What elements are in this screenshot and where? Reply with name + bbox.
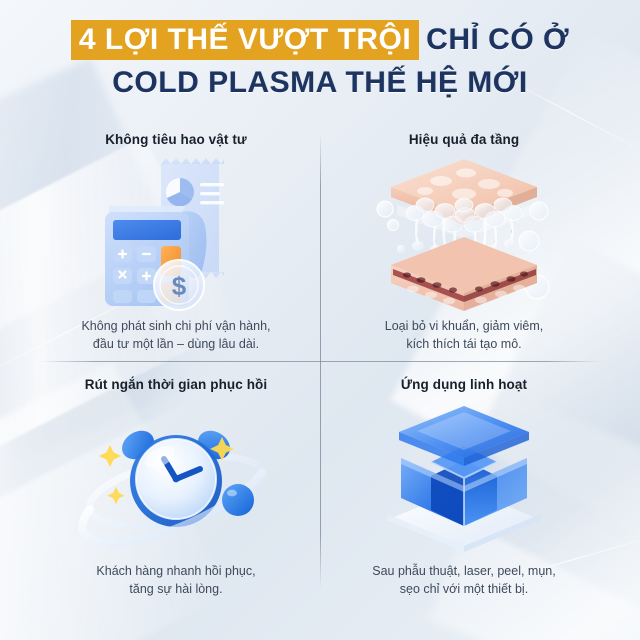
benefit-title: Ứng dụng linh hoạt — [401, 377, 527, 392]
cube-lid — [399, 406, 529, 466]
title-highlight-phrase: 4 LỢI THẾ VƯỢT TRỘI — [71, 20, 419, 60]
svg-text:$: $ — [172, 271, 187, 301]
benefit-cell-rut-ngan-thoi-gian-phuc-hoi: Rút ngắn thời gian phục hồi — [32, 363, 320, 608]
benefit-cell-khong-tieu-hao-vat-tu: Không tiêu hao vật tư — [32, 118, 320, 363]
benefit-caption: Loại bỏ vi khuẩn, giảm viêm, kích thích … — [385, 317, 543, 353]
page-title: 4 LỢI THẾ VƯỢT TRỘICHỈ CÓ Ở COLD PLASMA … — [0, 22, 640, 101]
benefit-caption: Sau phẫu thuật, laser, peel, mụn, sẹo ch… — [372, 562, 555, 598]
title-plain-phrase: CHỈ CÓ Ở — [419, 23, 569, 56]
benefit-title: Hiệu quả đa tầng — [409, 132, 519, 147]
alarm-clock-orbit-illustration — [44, 396, 308, 560]
title-line-2: COLD PLASMA THẾ HỆ MỚI — [0, 65, 640, 100]
benefit-title: Rút ngắn thời gian phục hồi — [85, 377, 268, 392]
dollar-coin-shape: $ — [154, 260, 204, 310]
skin-layers-cross-section-illustration — [332, 151, 596, 315]
benefit-title: Không tiêu hao vật tư — [105, 132, 247, 147]
grid-horizontal-divider — [40, 361, 602, 362]
infographic-poster: 4 LỢI THẾ VƯỢT TRỘICHỈ CÓ Ở COLD PLASMA … — [0, 0, 640, 640]
benefit-cell-hieu-qua-da-tang: Hiệu quả đa tầng — [320, 118, 608, 363]
blue-cube-illustration — [332, 396, 596, 560]
benefit-caption: Không phát sinh chi phí vận hành, đầu tư… — [81, 317, 270, 353]
benefit-caption: Khách hàng nhanh hồi phục, tăng sự hài l… — [96, 562, 255, 598]
orbit-sphere — [222, 484, 254, 516]
benefit-cell-ung-dung-linh-hoat: Ứng dụng linh hoạt — [320, 363, 608, 608]
title-line-1: 4 LỢI THẾ VƯỢT TRỘICHỈ CÓ Ở — [0, 22, 640, 57]
calculator-receipt-coin-illustration: $ — [44, 151, 308, 315]
